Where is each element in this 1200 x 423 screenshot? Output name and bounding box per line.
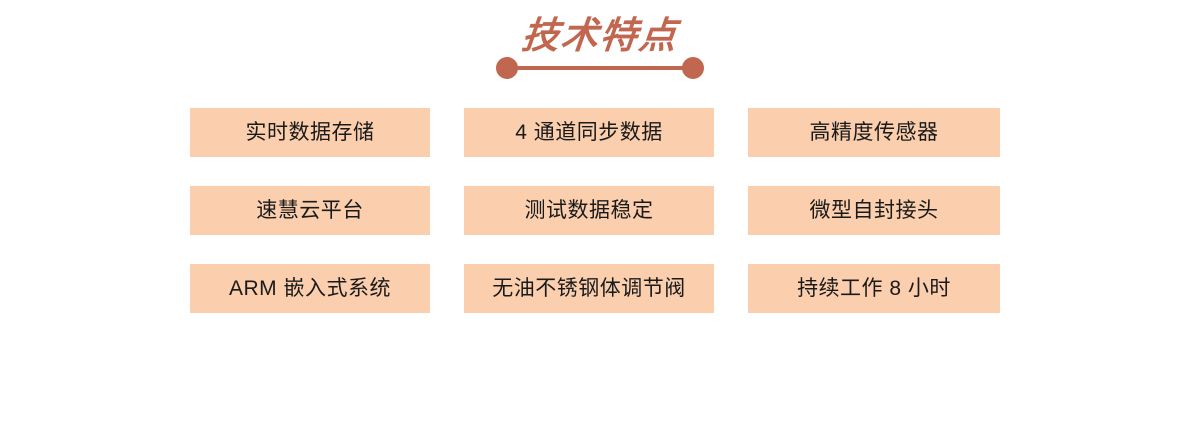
feature-label: 无油不锈钢体调节阀 [492, 278, 686, 299]
feature-item: 测试数据稳定 [464, 186, 714, 235]
divider-right-dot-icon [682, 57, 704, 79]
feature-item: 高精度传感器 [748, 108, 1000, 157]
feature-label: ARM 嵌入式系统 [229, 278, 391, 299]
feature-label: 高精度传感器 [810, 122, 939, 143]
feature-label: 测试数据稳定 [525, 200, 654, 221]
feature-grid: 实时数据存储 4 通道同步数据 高精度传感器 速慧云平台 测试数据稳定 微型自封… [190, 108, 1000, 313]
feature-item: 持续工作 8 小时 [748, 264, 1000, 313]
feature-label: 持续工作 8 小时 [797, 278, 951, 299]
feature-item: 微型自封接头 [748, 186, 1000, 235]
section-header: 技术特点 [0, 14, 1200, 84]
feature-item: 实时数据存储 [190, 108, 430, 157]
feature-item: 速慧云平台 [190, 186, 430, 235]
feature-highlight-page: 技术特点 实时数据存储 4 通道同步数据 高精度传感器 速慧云平台 测试数据稳定… [0, 0, 1200, 423]
feature-label: 实时数据存储 [246, 122, 375, 143]
feature-label: 微型自封接头 [810, 200, 939, 221]
page-title: 技术特点 [520, 14, 681, 58]
feature-label: 4 通道同步数据 [515, 122, 663, 143]
feature-item: 4 通道同步数据 [464, 108, 714, 157]
feature-label: 速慧云平台 [256, 200, 364, 221]
divider-bar [506, 66, 694, 70]
feature-item: 无油不锈钢体调节阀 [464, 264, 714, 313]
feature-item: ARM 嵌入式系统 [190, 264, 430, 313]
title-divider [496, 57, 704, 79]
